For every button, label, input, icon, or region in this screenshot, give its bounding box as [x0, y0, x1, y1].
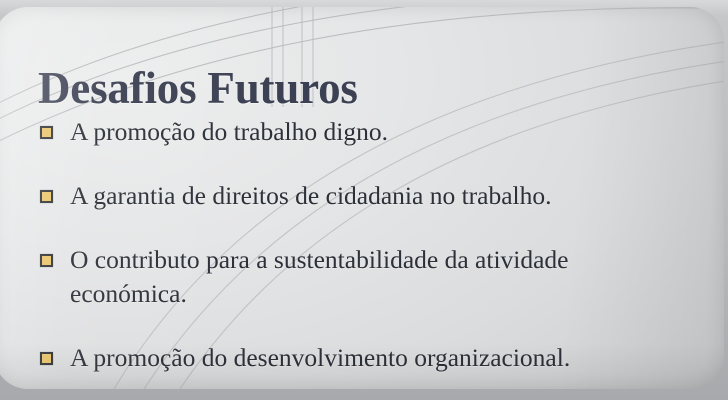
page-title: Desafios Futuros	[38, 62, 358, 114]
list-item-label: A promoção do trabalho digno.	[70, 115, 388, 149]
gold-square-bullet-icon	[40, 190, 53, 203]
list-item: A garantia de direitos de cidadania no t…	[40, 179, 700, 213]
presentation-slide: Desafios Futuros A promoção do trabalho …	[0, 7, 724, 389]
slide-content: Desafios Futuros A promoção do trabalho …	[0, 7, 724, 389]
list-item: A promoção do trabalho digno.	[40, 115, 700, 149]
bullet-list: A promoção do trabalho digno. A garantia…	[40, 115, 700, 375]
list-item-label: A promoção do desenvolvimento organizaci…	[70, 341, 570, 375]
gold-square-bullet-icon	[40, 254, 53, 267]
list-item-label: O contributo para a sustentabilidade da …	[70, 243, 690, 311]
list-item: A promoção do desenvolvimento organizaci…	[40, 341, 700, 375]
slide-photo-stage: Desafios Futuros A promoção do trabalho …	[0, 0, 728, 400]
list-item: O contributo para a sustentabilidade da …	[40, 243, 700, 311]
gold-square-bullet-icon	[40, 352, 53, 365]
gold-square-bullet-icon	[40, 126, 53, 139]
list-item-label: A garantia de direitos de cidadania no t…	[70, 179, 552, 213]
